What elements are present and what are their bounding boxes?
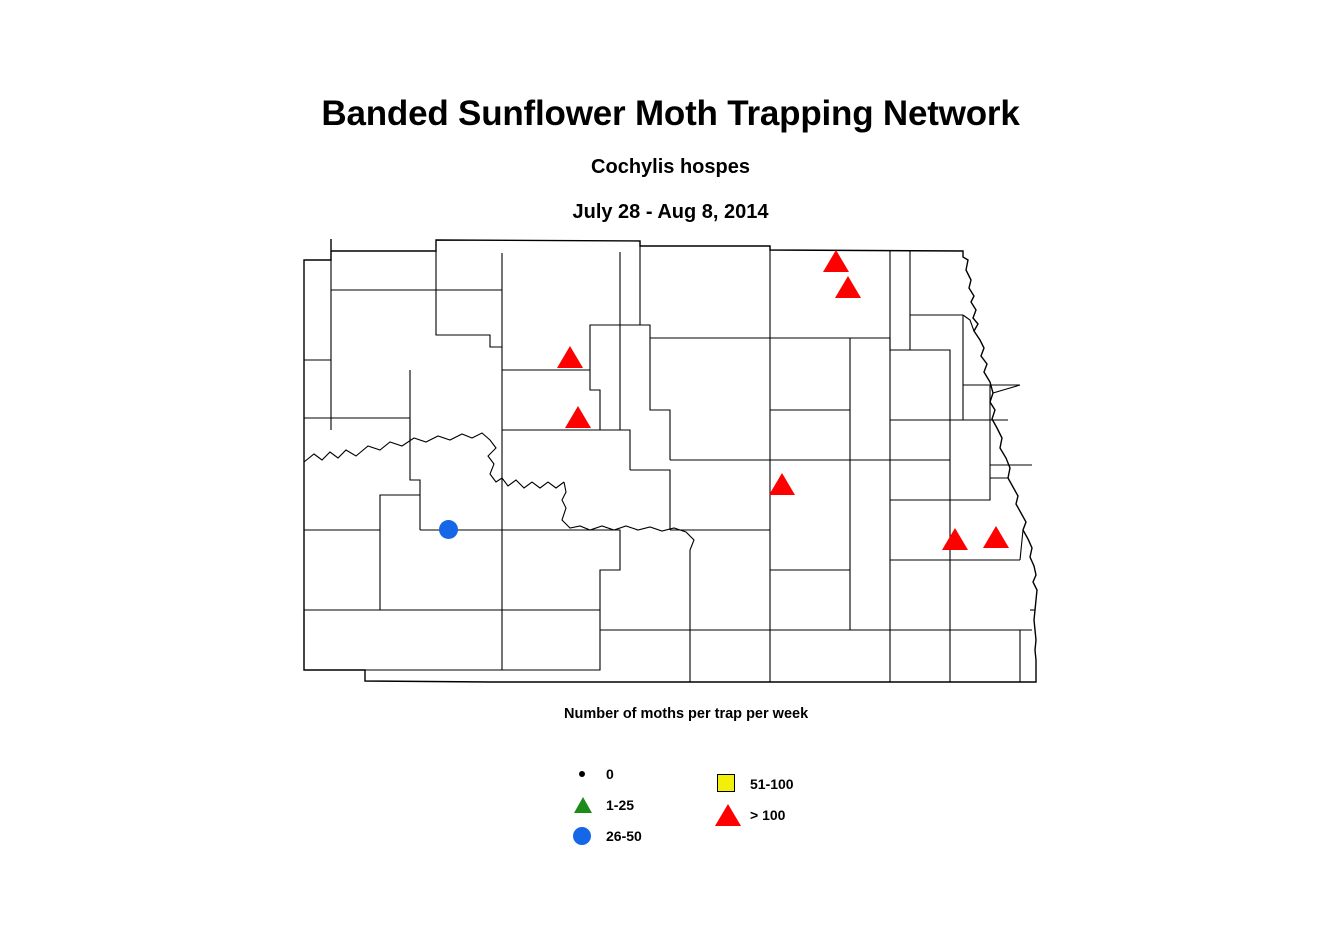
yellow-square-icon [712, 771, 742, 797]
map-marker-red-triangle[interactable] [565, 406, 591, 428]
map-marker-red-triangle[interactable] [557, 346, 583, 368]
page-root: Banded Sunflower Moth Trapping Network C… [0, 0, 1341, 926]
legend-item-51-100: 51-100 [712, 768, 794, 799]
map-container [290, 230, 1060, 700]
map-marker-red-triangle[interactable] [983, 526, 1009, 548]
legend-heading: Number of moths per trap per week [564, 706, 808, 722]
legend-right-column: 51-100 > 100 [712, 768, 794, 830]
date-range-label: July 28 - Aug 8, 2014 [0, 202, 1341, 222]
legend-item-label: 0 [606, 766, 614, 782]
legend-item-over-100: > 100 [712, 799, 794, 830]
legend-item-label: > 100 [750, 807, 785, 823]
legend-item-label: 1-25 [606, 797, 634, 813]
map-marker-blue-circle[interactable] [439, 520, 458, 539]
blue-circle-icon [568, 823, 598, 849]
legend-left-column: 0 1-25 26-50 [568, 758, 642, 851]
black-dot-icon [568, 761, 598, 787]
legend: Number of moths per trap per week 0 1-25… [560, 706, 1020, 866]
legend-item-zero: 0 [568, 758, 642, 789]
title-block: Banded Sunflower Moth Trapping Network C… [0, 96, 1341, 222]
legend-item-1-25: 1-25 [568, 789, 642, 820]
map-marker-red-triangle[interactable] [823, 250, 849, 272]
map-marker-red-triangle[interactable] [769, 473, 795, 495]
legend-item-26-50: 26-50 [568, 820, 642, 851]
species-subtitle: Cochylis hospes [0, 157, 1341, 177]
map-marker-red-triangle[interactable] [942, 528, 968, 550]
north-dakota-map [290, 230, 1060, 700]
legend-item-label: 51-100 [750, 776, 794, 792]
green-triangle-icon [568, 792, 598, 818]
page-title: Banded Sunflower Moth Trapping Network [0, 96, 1341, 131]
legend-item-label: 26-50 [606, 828, 642, 844]
red-triangle-icon [712, 802, 742, 828]
map-marker-red-triangle[interactable] [835, 276, 861, 298]
